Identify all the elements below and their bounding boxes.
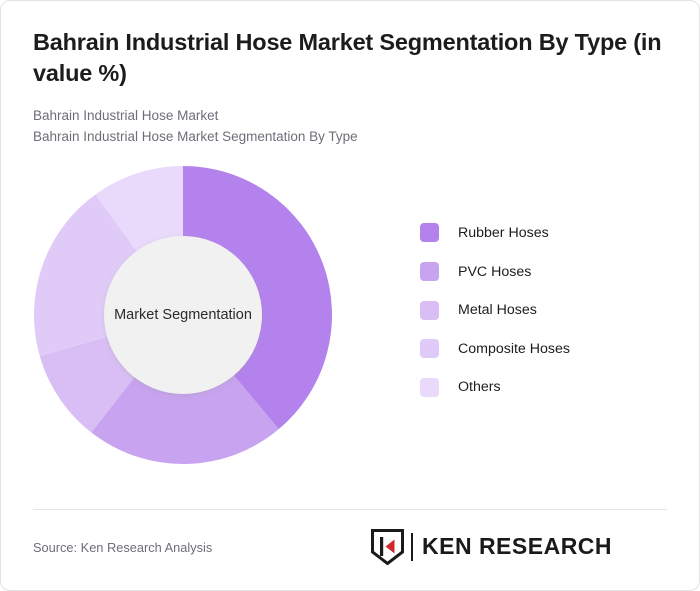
logo-wordmark-text: KEN RESEARCH <box>422 534 612 559</box>
legend-swatch-icon <box>420 223 439 242</box>
chart-legend: Rubber HosesPVC HosesMetal HosesComposit… <box>420 214 670 407</box>
legend-label: PVC Hoses <box>458 264 531 280</box>
chart-footer: Source: Ken Research Analysis KEN RESEAR… <box>33 523 667 571</box>
chart-card: Bahrain Industrial Hose Market Segmentat… <box>0 0 700 591</box>
legend-swatch-icon <box>420 301 439 320</box>
subtitle-segmentation: Bahrain Industrial Hose Market Segmentat… <box>33 126 667 147</box>
chart-body: Market Segmentation Rubber HosesPVC Hose… <box>1 154 699 484</box>
donut-hub <box>104 236 262 394</box>
donut-svg <box>34 166 332 464</box>
legend-swatch-icon <box>420 262 439 281</box>
legend-item-2[interactable]: PVC Hoses <box>420 252 670 291</box>
subtitle-group: Bahrain Industrial Hose Market Bahrain I… <box>33 105 667 148</box>
legend-label: Others <box>458 379 501 395</box>
legend-swatch-icon <box>420 378 439 397</box>
footer-divider <box>33 509 667 510</box>
legend-item-3[interactable]: Metal Hoses <box>420 291 670 330</box>
legend-item-4[interactable]: Composite Hoses <box>420 329 670 368</box>
ken-research-logo: KEN RESEARCH <box>371 529 667 565</box>
logo-separator <box>411 533 413 561</box>
legend-item-1[interactable]: Rubber Hoses <box>420 214 670 253</box>
page-title: Bahrain Industrial Hose Market Segmentat… <box>33 27 667 89</box>
donut-chart: Market Segmentation <box>34 166 332 464</box>
legend-label: Rubber Hoses <box>458 225 549 241</box>
legend-label: Composite Hoses <box>458 341 570 357</box>
ken-research-wordmark: KEN RESEARCH <box>422 534 667 560</box>
legend-item-5[interactable]: Others <box>420 368 670 407</box>
subtitle-market: Bahrain Industrial Hose Market <box>33 105 667 126</box>
ken-research-shield-icon <box>371 529 404 565</box>
chart-header: Bahrain Industrial Hose Market Segmentat… <box>1 1 699 148</box>
legend-label: Metal Hoses <box>458 302 537 318</box>
legend-swatch-icon <box>420 339 439 358</box>
source-note: Source: Ken Research Analysis <box>33 540 212 555</box>
